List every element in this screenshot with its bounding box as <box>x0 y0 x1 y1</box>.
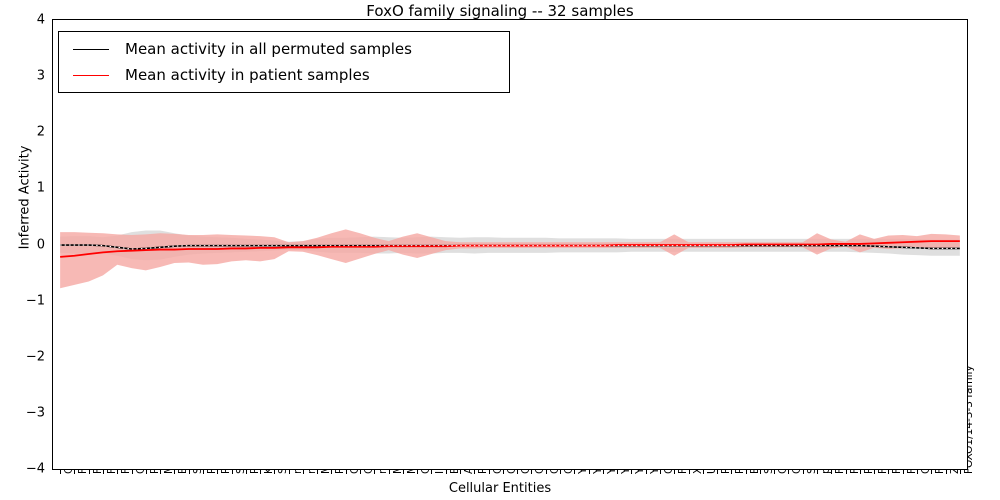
x-tick-mark <box>960 470 961 474</box>
x-tick-mark <box>74 470 75 474</box>
x-tick-mark <box>260 470 261 474</box>
x-tick-mark <box>203 470 204 474</box>
x-tick-mark <box>274 470 275 474</box>
x-tick-mark <box>189 470 190 474</box>
x-tick-mark <box>931 470 932 474</box>
x-tick-mark <box>560 470 561 474</box>
x-tick-mark <box>589 470 590 474</box>
x-tick-mark <box>246 470 247 474</box>
x-tick-mark <box>474 470 475 474</box>
x-tick-mark <box>503 470 504 474</box>
x-tick-mark <box>317 470 318 474</box>
x-tick-mark <box>446 470 447 474</box>
legend-swatch-permuted <box>73 49 109 50</box>
x-tick-mark <box>546 470 547 474</box>
legend-label-patient: Mean activity in patient samples <box>125 66 370 84</box>
x-tick-mark <box>831 470 832 474</box>
x-tick-mark <box>860 470 861 474</box>
x-tick-mark <box>817 470 818 474</box>
x-tick-mark <box>417 470 418 474</box>
x-tick-mark <box>760 470 761 474</box>
x-tick-mark <box>617 470 618 474</box>
x-tick-mark <box>60 470 61 474</box>
x-tick-mark <box>103 470 104 474</box>
legend-swatch-patient <box>73 75 109 76</box>
x-tick-mark <box>689 470 690 474</box>
x-tick-mark <box>774 470 775 474</box>
x-tick-mark <box>803 470 804 474</box>
x-tick-mark <box>903 470 904 474</box>
y-tick-label: 1 <box>37 181 45 196</box>
y-tick-label: −1 <box>26 293 45 308</box>
x-tick-mark <box>389 470 390 474</box>
x-tick-mark <box>746 470 747 474</box>
y-axis-label: Inferred Activity <box>18 118 33 278</box>
x-tick-mark <box>517 470 518 474</box>
x-tick-mark <box>631 470 632 474</box>
x-tick-mark <box>731 470 732 474</box>
x-tick-mark <box>360 470 361 474</box>
x-tick-mark <box>603 470 604 474</box>
x-tick-mark <box>217 470 218 474</box>
y-tick-label: −2 <box>26 349 45 364</box>
x-tick-mark <box>431 470 432 474</box>
x-tick-mark <box>346 470 347 474</box>
y-tick-label: 3 <box>37 69 45 84</box>
x-tick-mark <box>574 470 575 474</box>
x-axis-label: Cellular Entities <box>0 481 1000 496</box>
x-tick-mark <box>846 470 847 474</box>
x-tick-mark <box>874 470 875 474</box>
y-tick-label: 2 <box>37 125 45 140</box>
x-tick-mark <box>489 470 490 474</box>
x-tick-mark <box>146 470 147 474</box>
x-tick-mark <box>788 470 789 474</box>
chart-legend: Mean activity in all permuted samples Me… <box>58 31 510 93</box>
x-tick-mark <box>303 470 304 474</box>
y-tick-label: −3 <box>26 405 45 420</box>
x-tick-mark <box>160 470 161 474</box>
x-tick-mark <box>888 470 889 474</box>
x-tick-mark <box>660 470 661 474</box>
x-tick-mark <box>174 470 175 474</box>
y-tick-label: 0 <box>37 237 45 252</box>
x-tick-mark <box>374 470 375 474</box>
x-tick-mark <box>917 470 918 474</box>
legend-entry-patient: Mean activity in patient samples <box>59 62 509 88</box>
y-tick-label: −4 <box>26 462 45 477</box>
x-tick-mark <box>717 470 718 474</box>
x-tick-mark <box>946 470 947 474</box>
x-tick-mark <box>674 470 675 474</box>
x-tick-mark <box>89 470 90 474</box>
page-title: FoxO family signaling -- 32 samples <box>0 2 1000 20</box>
x-tick-mark <box>289 470 290 474</box>
x-tick-mark <box>703 470 704 474</box>
x-tick-mark <box>646 470 647 474</box>
legend-label-permuted: Mean activity in all permuted samples <box>125 40 412 58</box>
x-tick-mark <box>132 470 133 474</box>
y-tick-label: 4 <box>37 13 45 28</box>
x-tick-mark <box>531 470 532 474</box>
x-tick-mark <box>460 470 461 474</box>
x-tick-mark <box>117 470 118 474</box>
chart-root: FoxO family signaling -- 32 samples Infe… <box>0 0 1000 500</box>
x-tick-mark <box>331 470 332 474</box>
x-tick-mark <box>403 470 404 474</box>
x-tick-mark <box>232 470 233 474</box>
legend-entry-permuted: Mean activity in all permuted samples <box>59 36 509 62</box>
